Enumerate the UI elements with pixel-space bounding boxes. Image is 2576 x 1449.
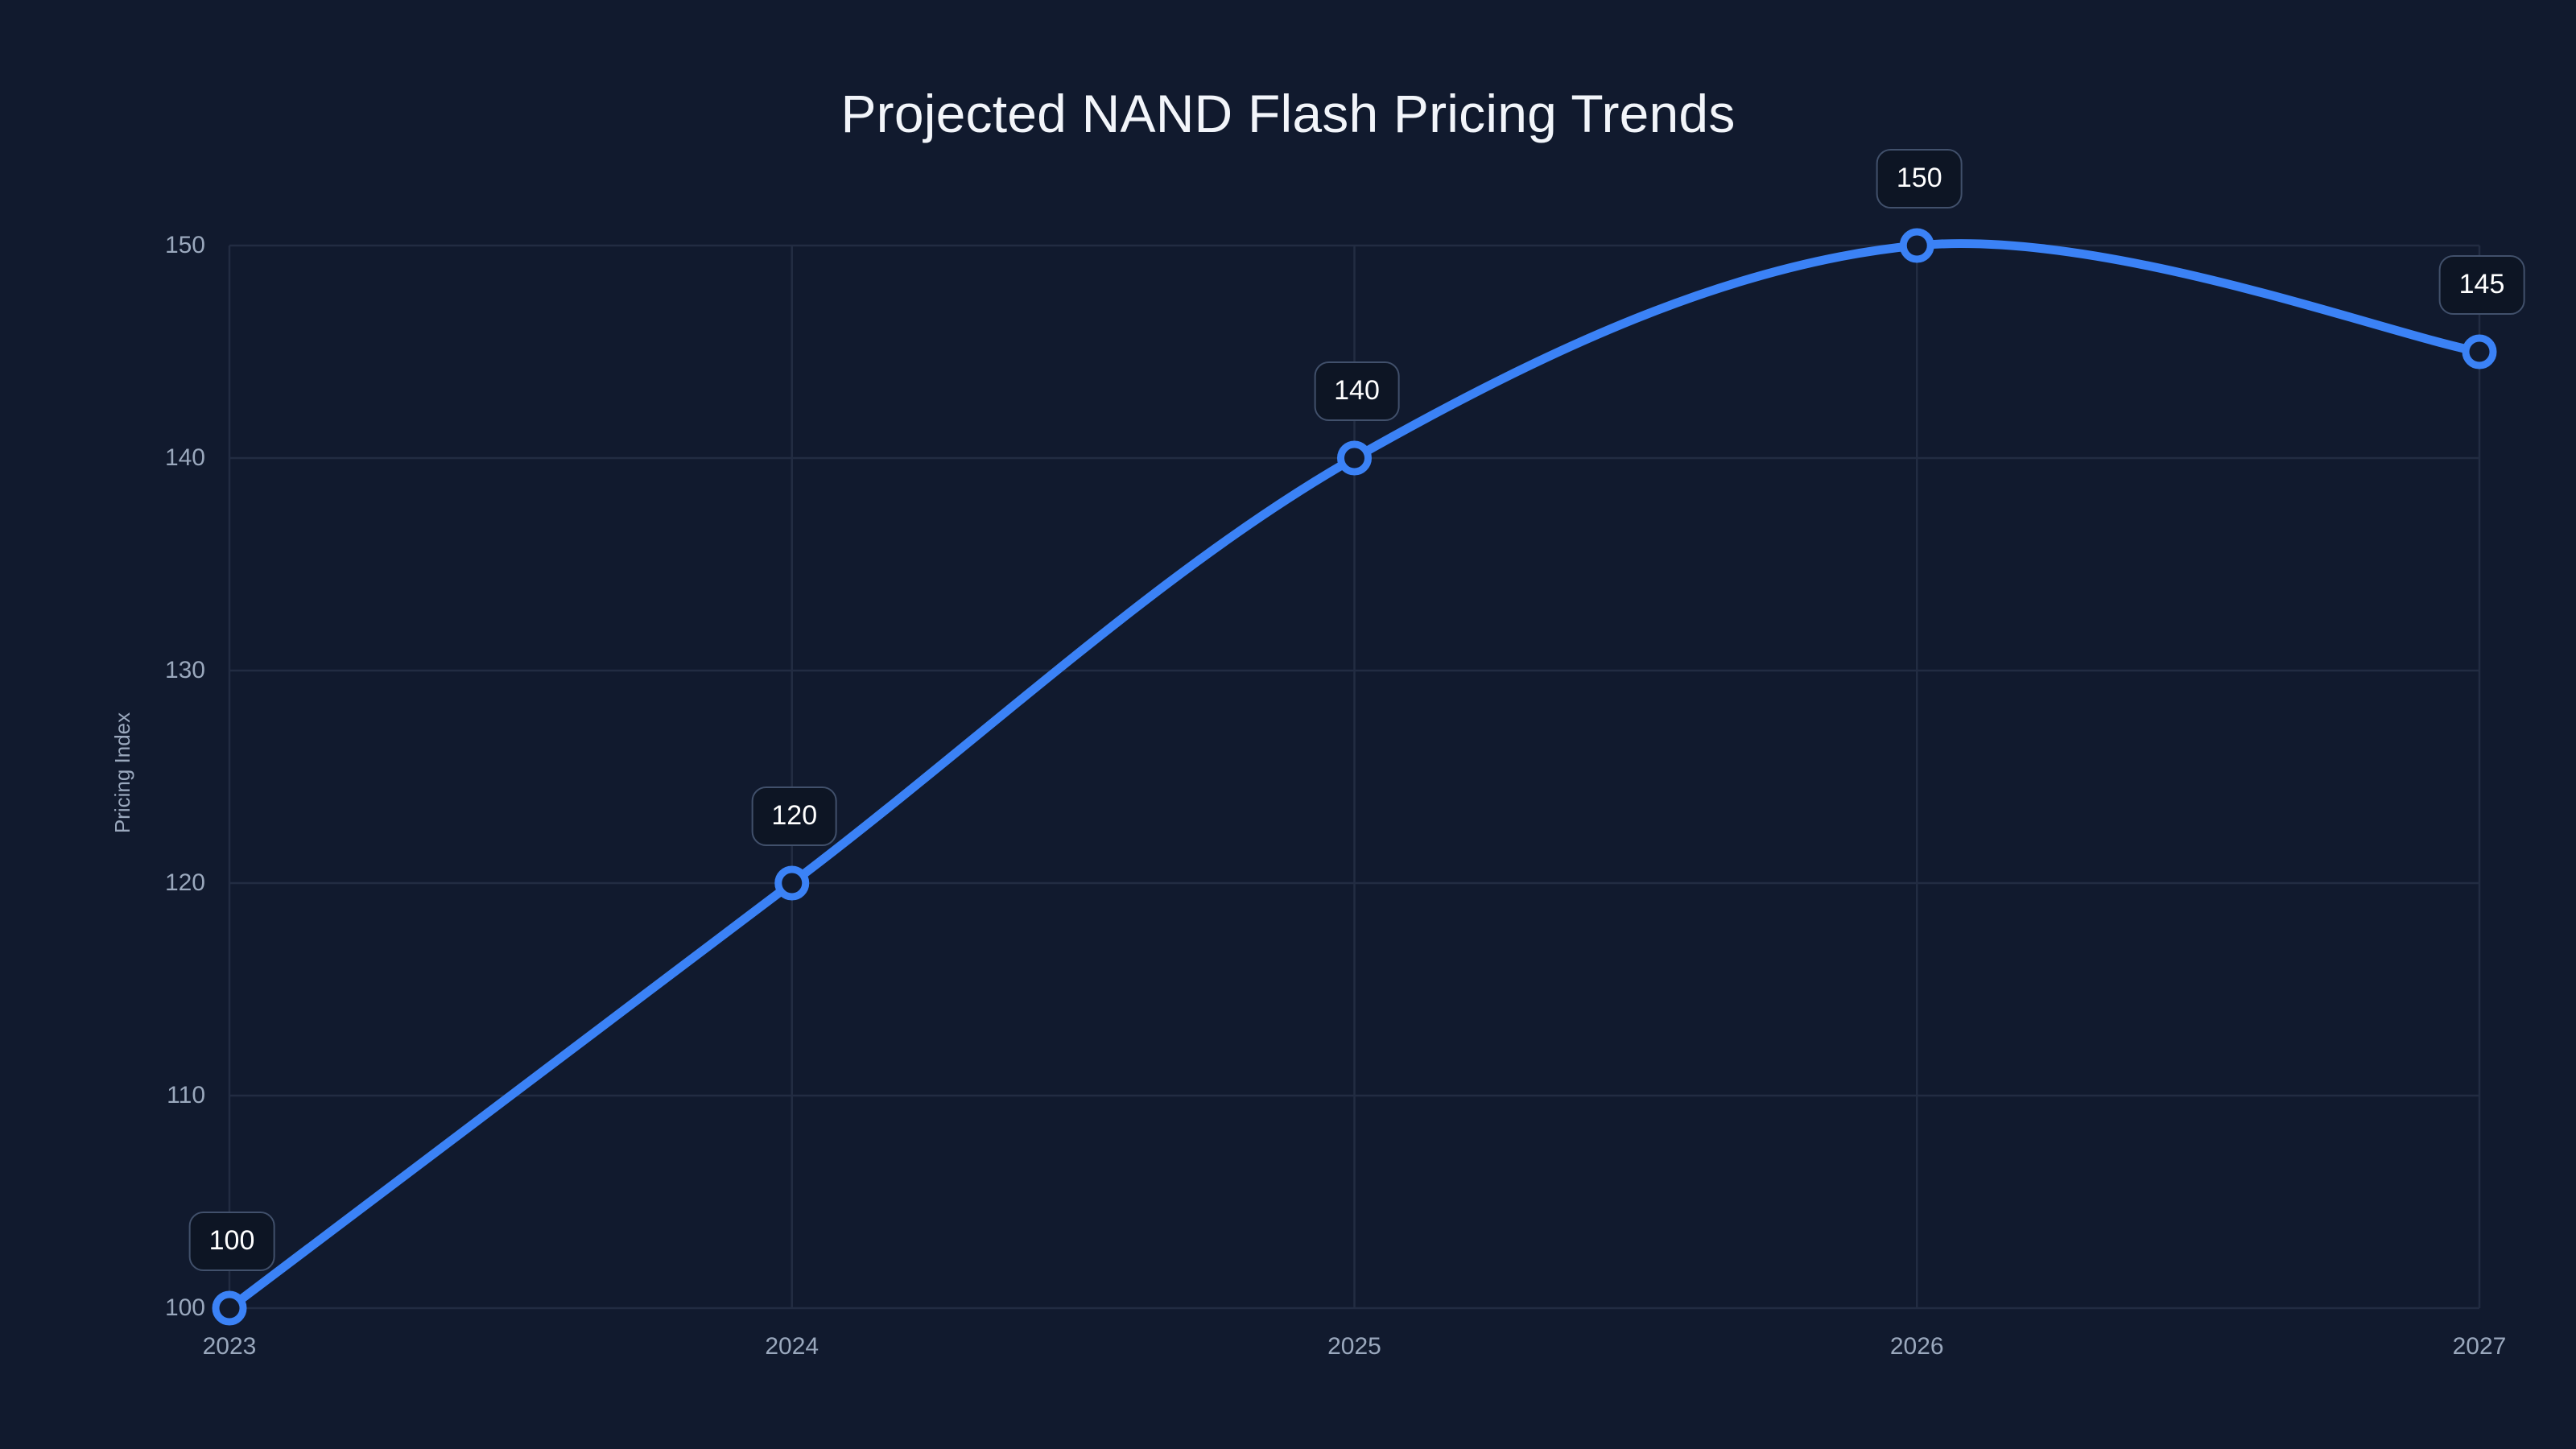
y-axis-tick-label: 140 — [141, 446, 205, 470]
data-point-marker[interactable] — [216, 1294, 243, 1322]
y-axis-tick-label: 130 — [141, 658, 205, 683]
data-label-badge: 140 — [1314, 361, 1400, 421]
x-axis-tick-label: 2023 — [203, 1335, 257, 1359]
data-point-marker[interactable] — [2466, 338, 2493, 365]
data-point-marker[interactable] — [1903, 232, 1930, 259]
data-point-marker[interactable] — [1341, 444, 1368, 472]
x-axis-tick-label: 2026 — [1890, 1335, 1944, 1359]
chart-container: Projected NAND Flash Pricing Trends 1501… — [0, 0, 2576, 1449]
y-axis-tick-label: 150 — [141, 233, 205, 258]
y-axis-tick-label: 110 — [141, 1084, 205, 1108]
y-axis-tick-label: 100 — [141, 1296, 205, 1320]
data-label-badge: 100 — [189, 1212, 275, 1271]
data-label-badge: 120 — [751, 786, 837, 846]
data-point-marker[interactable] — [778, 869, 806, 897]
plot-area — [0, 0, 2576, 1449]
y-axis-title: Pricing Index — [112, 712, 133, 833]
x-axis-tick-label: 2027 — [2453, 1335, 2507, 1359]
data-label-badge: 145 — [2439, 255, 2525, 315]
data-label-badge: 150 — [1876, 149, 1963, 208]
y-axis-tick-label: 120 — [141, 871, 205, 895]
x-axis-tick-label: 2025 — [1327, 1335, 1381, 1359]
x-axis-tick-label: 2024 — [765, 1335, 819, 1359]
